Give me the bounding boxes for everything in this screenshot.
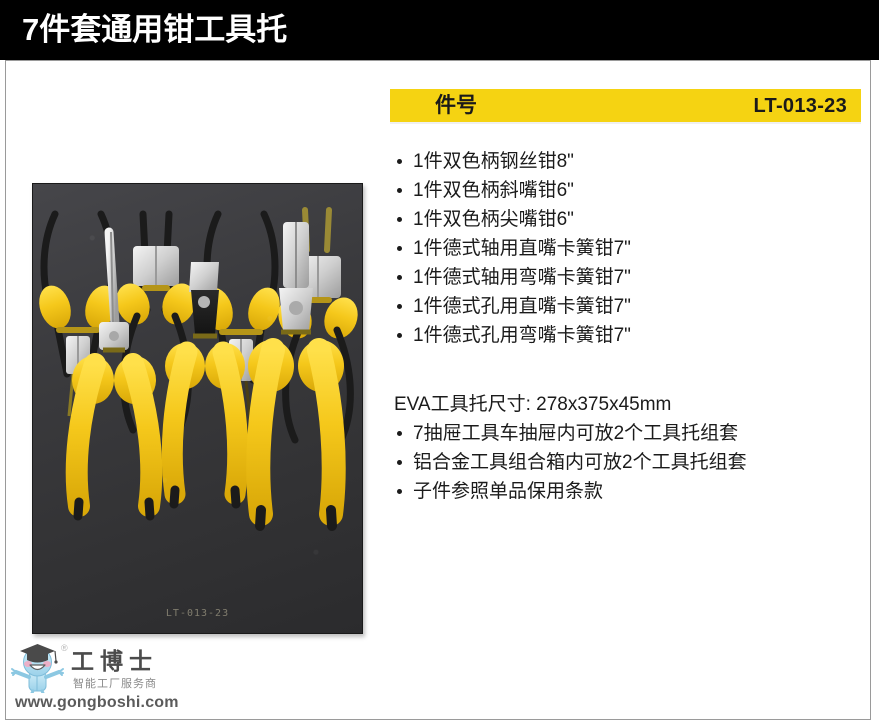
list-item: 1件德式轴用弯嘴卡簧钳7" <box>392 263 862 292</box>
part-number-banner: 件号 LT-013-23 <box>390 89 861 122</box>
product-spec-page: 7件套通用钳工具托 <box>0 0 879 727</box>
brand-tagline: 智能工厂服务商 <box>73 677 157 691</box>
page-title: 7件套通用钳工具托 <box>22 9 287 51</box>
part-number-value: LT-013-23 <box>754 94 847 119</box>
part-number-label: 件号 <box>435 93 477 119</box>
list-item: 子件参照单品保用条款 <box>392 477 862 506</box>
list-item: 1件双色柄钢丝钳8" <box>392 147 862 176</box>
list-item: 铝合金工具组合箱内可放2个工具托组套 <box>392 448 862 477</box>
brand-name: 工博士 <box>71 648 158 676</box>
list-item: 1件双色柄尖嘴钳6" <box>392 205 862 234</box>
specification-list: 1件双色柄钢丝钳8" 1件双色柄斜嘴钳6" 1件双色柄尖嘴钳6" 1件德式轴用直… <box>392 147 862 350</box>
list-item: 1件德式孔用直嘴卡簧钳7" <box>392 292 862 321</box>
dimensions-and-notes: EVA工具托尺寸: 278x375x45mm 7抽屉工具车抽屉内可放2个工具托组… <box>392 390 862 506</box>
mascot-icon <box>9 641 69 693</box>
page-header: 7件套通用钳工具托 <box>0 0 879 60</box>
company-logo[interactable]: ® 工博士 智能工厂服务商 www.gongboshi.com <box>9 641 239 719</box>
notes-list: 7抽屉工具车抽屉内可放2个工具托组套 铝合金工具组合箱内可放2个工具托组套 子件… <box>392 419 862 506</box>
product-image: LT-013-23 <box>32 183 363 634</box>
list-item: 7抽屉工具车抽屉内可放2个工具托组套 <box>392 419 862 448</box>
list-item: 1件双色柄斜嘴钳6" <box>392 176 862 205</box>
tools-illustration <box>33 184 362 633</box>
list-item: 1件德式轴用直嘴卡簧钳7" <box>392 234 862 263</box>
company-website-url[interactable]: www.gongboshi.com <box>15 693 179 713</box>
component-list: 1件双色柄钢丝钳8" 1件双色柄斜嘴钳6" 1件双色柄尖嘴钳6" 1件德式轴用直… <box>392 147 862 350</box>
eva-tool-tray: LT-013-23 <box>32 183 363 634</box>
registered-trademark-icon: ® <box>61 643 68 653</box>
tray-part-number-label: LT-013-23 <box>33 608 362 619</box>
list-item: 1件德式孔用弯嘴卡簧钳7" <box>392 321 862 350</box>
tray-dimensions-text: EVA工具托尺寸: 278x375x45mm <box>392 390 862 419</box>
